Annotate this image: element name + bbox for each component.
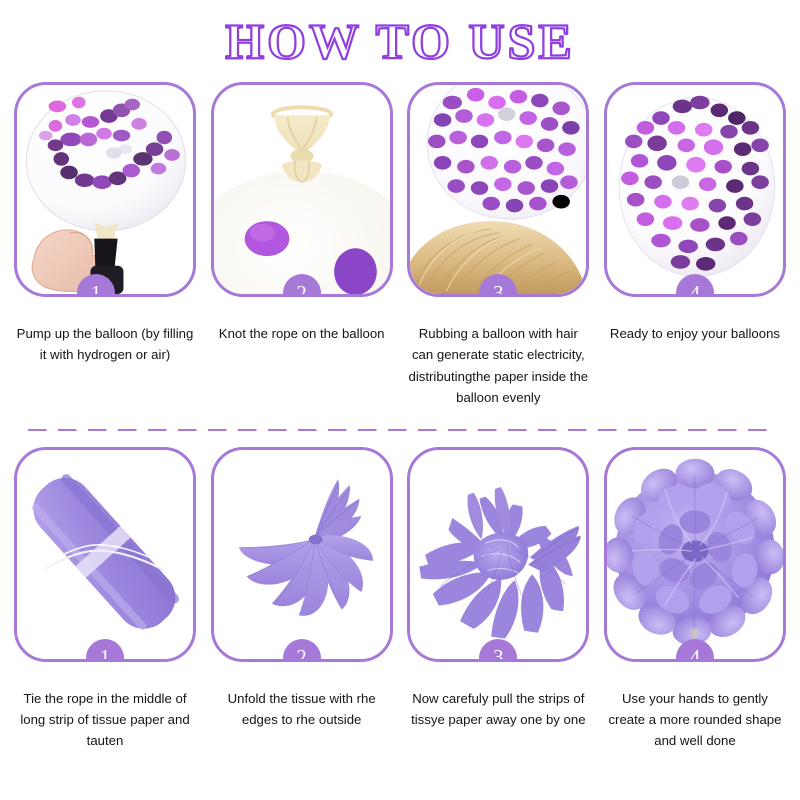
- step-caption: Use your hands to gently create a more r…: [604, 688, 786, 752]
- step-card-tissue-3: 3 Now carefuly pull the strips of tissye…: [407, 447, 589, 752]
- row-balloon-instructions: 1 Pump up the balloon (by filling it wit…: [0, 82, 800, 409]
- step-card-tissue-4: 4 Use your hands to gently create a more…: [604, 447, 786, 752]
- page-title: HOW TO USE: [225, 12, 575, 70]
- illustration-unfolded-tissue-fan: [214, 450, 390, 659]
- page-title-container: HOW TO USE: [0, 0, 800, 82]
- illustration-tissue-layers-separated-half-pom: [410, 450, 586, 659]
- step-image-card: 4: [604, 447, 786, 662]
- step-caption: Ready to enjoy your balloons: [604, 323, 786, 344]
- step-caption: Knot the rope on the balloon: [211, 323, 393, 344]
- step-image-card: 3: [407, 82, 589, 297]
- how-to-use-infographic: HOW TO USE: [0, 0, 800, 800]
- row-tissue-pom-pom-instructions: 1 Tie the rope in the middle of long str…: [0, 447, 800, 752]
- step-caption: Rubbing a balloon with hair can generate…: [407, 323, 589, 409]
- step-caption: Tie the rope in the middle of long strip…: [14, 688, 196, 752]
- step-image-card: 1: [14, 447, 196, 662]
- row-divider: [28, 429, 772, 431]
- step-caption: Unfold the tissue with rhe edges to rhe …: [211, 688, 393, 731]
- step-image-card: 3: [407, 447, 589, 662]
- illustration-finished-tissue-pom-pom: [607, 450, 783, 659]
- illustration-folded-tissue-strip-tied-with-string: [17, 450, 193, 659]
- step-card-tissue-2: 2 Unfold the tissue with rhe edges to rh…: [211, 447, 393, 752]
- illustration-confetti-balloon-with-hand-pump: [17, 85, 193, 294]
- step-card-balloon-4: 4 Ready to enjoy your balloons: [604, 82, 786, 409]
- step-caption: Now carefuly pull the strips of tissye p…: [407, 688, 589, 731]
- step-caption: Pump up the balloon (by filling it with …: [14, 323, 196, 366]
- illustration-knotted-balloon-neck-closeup: [214, 85, 390, 294]
- step-card-balloon-3: 3 Rubbing a balloon with hair can genera…: [407, 82, 589, 409]
- step-image-card: 2: [211, 82, 393, 297]
- step-image-card: 4: [604, 82, 786, 297]
- illustration-finished-confetti-balloon: [607, 85, 783, 294]
- step-card-balloon-1: 1 Pump up the balloon (by filling it wit…: [14, 82, 196, 409]
- step-card-tissue-1: 1 Tie the rope in the middle of long str…: [14, 447, 196, 752]
- step-image-card: 2: [211, 447, 393, 662]
- illustration-balloon-rubbed-on-blonde-hair: [410, 85, 586, 294]
- step-image-card: 1: [14, 82, 196, 297]
- step-card-balloon-2: 2 Knot the rope on the balloon: [211, 82, 393, 409]
